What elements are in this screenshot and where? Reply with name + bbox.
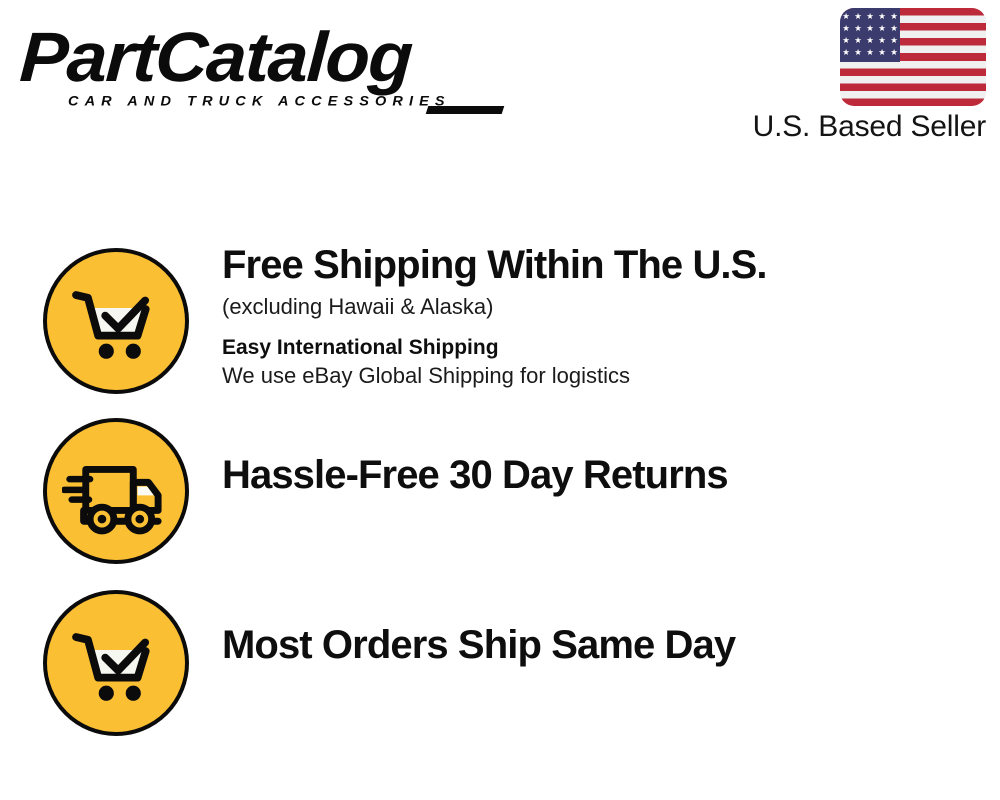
flag-canton: ★★★★★ ★★★★★ ★★★★★ ★★★★★ [840,8,900,62]
flag-star-row: ★★★★★ [840,48,900,57]
feature-extra-title: Easy International Shipping [222,335,980,361]
brand-tagline: CAR AND TRUCK ACCESSORIES [68,94,451,109]
feature-title: Free Shipping Within The U.S. [222,242,980,288]
feature-title: Most Orders Ship Same Day [222,622,980,668]
feature-text-block: Most Orders Ship Same Day [222,622,980,668]
delivery-truck-icon [43,418,189,564]
feature-row: Most Orders Ship Same Day [0,580,1000,740]
flag-star-row: ★★★★★ [840,24,900,33]
feature-subtitle: (excluding Hawaii & Alaska) [222,293,980,321]
feature-title: Hassle-Free 30 Day Returns [222,452,980,498]
feature-extra-subtitle: We use eBay Global Shipping for logistic… [222,362,980,390]
shopping-cart-check-icon [43,590,189,736]
feature-text-block: Hassle-Free 30 Day Returns [222,452,980,498]
feature-row: Hassle-Free 30 Day Returns [0,408,1000,568]
shopping-cart-check-icon [43,248,189,394]
feature-text-block: Free Shipping Within The U.S. (excluding… [222,242,980,390]
us-based-seller-badge: ★★★★★ ★★★★★ ★★★★★ ★★★★★ U.S. Based Selle… [716,8,986,144]
page-header: PartCatalog CAR AND TRUCK ACCESSORIES ★★… [0,0,1000,170]
flag-star-row: ★★★★★ [840,12,900,21]
flag-star-row: ★★★★★ [840,36,900,45]
seller-badge-caption: U.S. Based Seller [716,110,986,144]
us-flag-icon: ★★★★★ ★★★★★ ★★★★★ ★★★★★ [840,8,986,106]
brand-underline-accent [426,106,505,114]
brand-logo[interactable]: PartCatalog CAR AND TRUCK ACCESSORIES [22,22,502,117]
brand-wordmark: PartCatalog [18,22,521,92]
feature-row: Free Shipping Within The U.S. (excluding… [0,238,1000,398]
